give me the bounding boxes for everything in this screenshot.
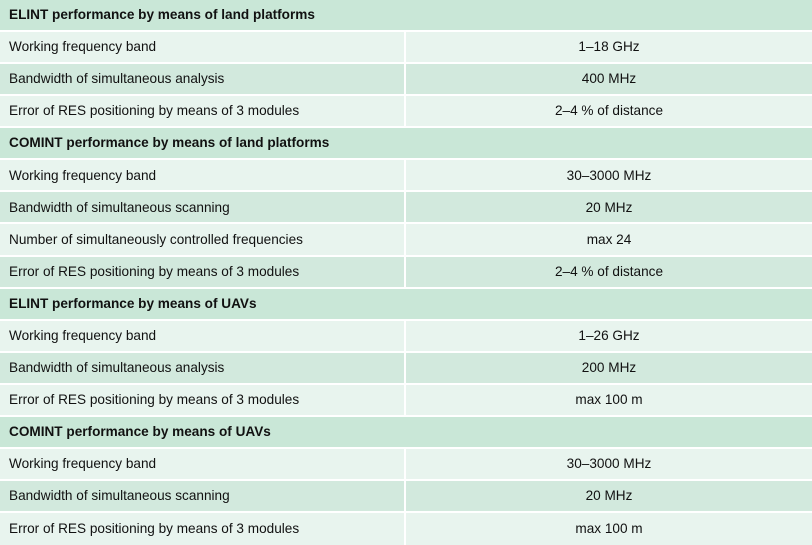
- table-row: Bandwidth of simultaneous analysis200 MH…: [0, 353, 812, 385]
- section-header-label: ELINT performance by means of UAVs: [0, 289, 812, 321]
- parameter-label: Error of RES positioning by means of 3 m…: [0, 96, 406, 128]
- table-body: ELINT performance by means of land platf…: [0, 0, 812, 545]
- parameter-value: 400 MHz: [406, 64, 812, 96]
- table-row: Error of RES positioning by means of 3 m…: [0, 257, 812, 289]
- section-header-row: ELINT performance by means of land platf…: [0, 0, 812, 32]
- specifications-table: ELINT performance by means of land platf…: [0, 0, 812, 545]
- parameter-value: 30–3000 MHz: [406, 160, 812, 192]
- table-row: Error of RES positioning by means of 3 m…: [0, 385, 812, 417]
- parameter-value: 2–4 % of distance: [406, 96, 812, 128]
- section-header-row: ELINT performance by means of UAVs: [0, 289, 812, 321]
- table-row: Error of RES positioning by means of 3 m…: [0, 96, 812, 128]
- table-row: Bandwidth of simultaneous analysis400 MH…: [0, 64, 812, 96]
- parameter-label: Working frequency band: [0, 449, 406, 481]
- parameter-label: Error of RES positioning by means of 3 m…: [0, 385, 406, 417]
- parameter-value: 20 MHz: [406, 481, 812, 513]
- table-row: Number of simultaneously controlled freq…: [0, 224, 812, 256]
- parameter-value: max 100 m: [406, 513, 812, 545]
- parameter-value: max 100 m: [406, 385, 812, 417]
- section-header-label: ELINT performance by means of land platf…: [0, 0, 812, 32]
- parameter-label: Error of RES positioning by means of 3 m…: [0, 513, 406, 545]
- parameter-label: Working frequency band: [0, 321, 406, 353]
- table-row: Error of RES positioning by means of 3 m…: [0, 513, 812, 545]
- parameter-value: 2–4 % of distance: [406, 257, 812, 289]
- parameter-value: 20 MHz: [406, 192, 812, 224]
- parameter-label: Bandwidth of simultaneous scanning: [0, 481, 406, 513]
- table-row: Working frequency band30–3000 MHz: [0, 160, 812, 192]
- table-row: Working frequency band1–26 GHz: [0, 321, 812, 353]
- parameter-value: 200 MHz: [406, 353, 812, 385]
- table-row: Bandwidth of simultaneous scanning20 MHz: [0, 481, 812, 513]
- parameter-value: 1–18 GHz: [406, 32, 812, 64]
- parameter-label: Working frequency band: [0, 160, 406, 192]
- parameter-label: Bandwidth of simultaneous scanning: [0, 192, 406, 224]
- section-header-row: COMINT performance by means of land plat…: [0, 128, 812, 160]
- section-header-label: COMINT performance by means of UAVs: [0, 417, 812, 449]
- table-row: Bandwidth of simultaneous scanning20 MHz: [0, 192, 812, 224]
- section-header-label: COMINT performance by means of land plat…: [0, 128, 812, 160]
- parameter-label: Working frequency band: [0, 32, 406, 64]
- parameter-label: Number of simultaneously controlled freq…: [0, 224, 406, 256]
- section-header-row: COMINT performance by means of UAVs: [0, 417, 812, 449]
- parameter-label: Error of RES positioning by means of 3 m…: [0, 257, 406, 289]
- parameter-value: 1–26 GHz: [406, 321, 812, 353]
- parameter-label: Bandwidth of simultaneous analysis: [0, 353, 406, 385]
- table-row: Working frequency band30–3000 MHz: [0, 449, 812, 481]
- parameter-value: 30–3000 MHz: [406, 449, 812, 481]
- parameter-label: Bandwidth of simultaneous analysis: [0, 64, 406, 96]
- parameter-value: max 24: [406, 224, 812, 256]
- table-row: Working frequency band1–18 GHz: [0, 32, 812, 64]
